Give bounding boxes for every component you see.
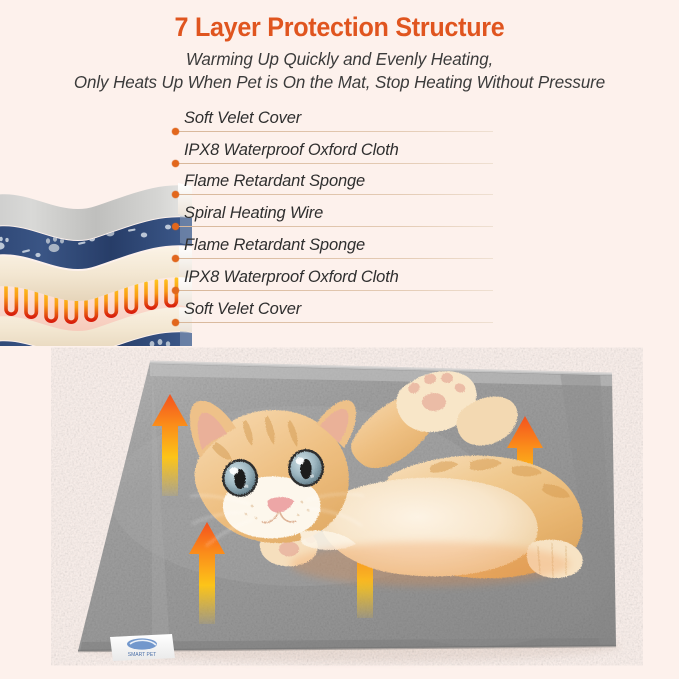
layer-row-6: IPX8 Waterproof Oxford Cloth bbox=[172, 290, 502, 291]
layer-bullet-dot-4 bbox=[172, 223, 179, 230]
brand-tag: SMART PET bbox=[110, 634, 175, 661]
layer-label-2: IPX8 Waterproof Oxford Cloth bbox=[184, 140, 399, 160]
layer-leader-line-5 bbox=[178, 258, 493, 259]
layer-leader-line-6 bbox=[178, 290, 493, 291]
layer-bullet-dot-5 bbox=[172, 255, 179, 262]
layer-row-2: IPX8 Waterproof Oxford Cloth bbox=[172, 163, 502, 164]
layer-bullet-dot-6 bbox=[172, 287, 179, 294]
layer-row-7: Soft Velet Cover bbox=[172, 322, 502, 323]
cat-on-heated-mat-illustration: SMART PET bbox=[0, 346, 679, 679]
layer-leader-line-4 bbox=[178, 226, 493, 227]
layer-bullet-dot-1 bbox=[172, 128, 179, 135]
layer-label-6: IPX8 Waterproof Oxford Cloth bbox=[184, 267, 399, 287]
infographic-page: 7 Layer Protection Structure Warming Up … bbox=[0, 0, 679, 679]
layer-label-3: Flame Retardant Sponge bbox=[184, 171, 365, 191]
header: 7 Layer Protection Structure Warming Up … bbox=[0, 0, 679, 96]
tag-label: SMART PET bbox=[128, 652, 156, 658]
subtitle-line-2: Only Heats Up When Pet is On the Mat, St… bbox=[10, 71, 669, 94]
product-photo: SMART PET bbox=[0, 346, 679, 679]
page-title: 7 Layer Protection Structure bbox=[24, 0, 655, 43]
layer-leader-line-3 bbox=[178, 194, 493, 195]
layer-label-5: Flame Retardant Sponge bbox=[184, 235, 365, 255]
layer-label-1: Soft Velet Cover bbox=[184, 108, 301, 128]
layer-diagram: Soft Velet Cover IPX8 Waterproof Oxford … bbox=[0, 96, 679, 346]
subtitle-line-1: Warming Up Quickly and Evenly Heating, bbox=[10, 43, 669, 71]
layer-row-4: Spiral Heating Wire bbox=[172, 226, 502, 227]
layer-leader-line-2 bbox=[178, 163, 493, 164]
layer-row-3: Flame Retardant Sponge bbox=[172, 194, 502, 195]
layer-label-7: Soft Velet Cover bbox=[184, 299, 301, 319]
layer-bullet-dot-3 bbox=[172, 191, 179, 198]
layer-row-1: Soft Velet Cover bbox=[172, 131, 502, 132]
layer-bullet-dot-2 bbox=[172, 160, 179, 167]
layer-leader-line-1 bbox=[178, 131, 493, 132]
layer-row-5: Flame Retardant Sponge bbox=[172, 258, 502, 259]
heat-glow bbox=[290, 542, 570, 586]
layer-label-4: Spiral Heating Wire bbox=[184, 203, 323, 223]
layer-bullet-dot-7 bbox=[172, 319, 179, 326]
layer-leader-line-7 bbox=[178, 322, 493, 323]
